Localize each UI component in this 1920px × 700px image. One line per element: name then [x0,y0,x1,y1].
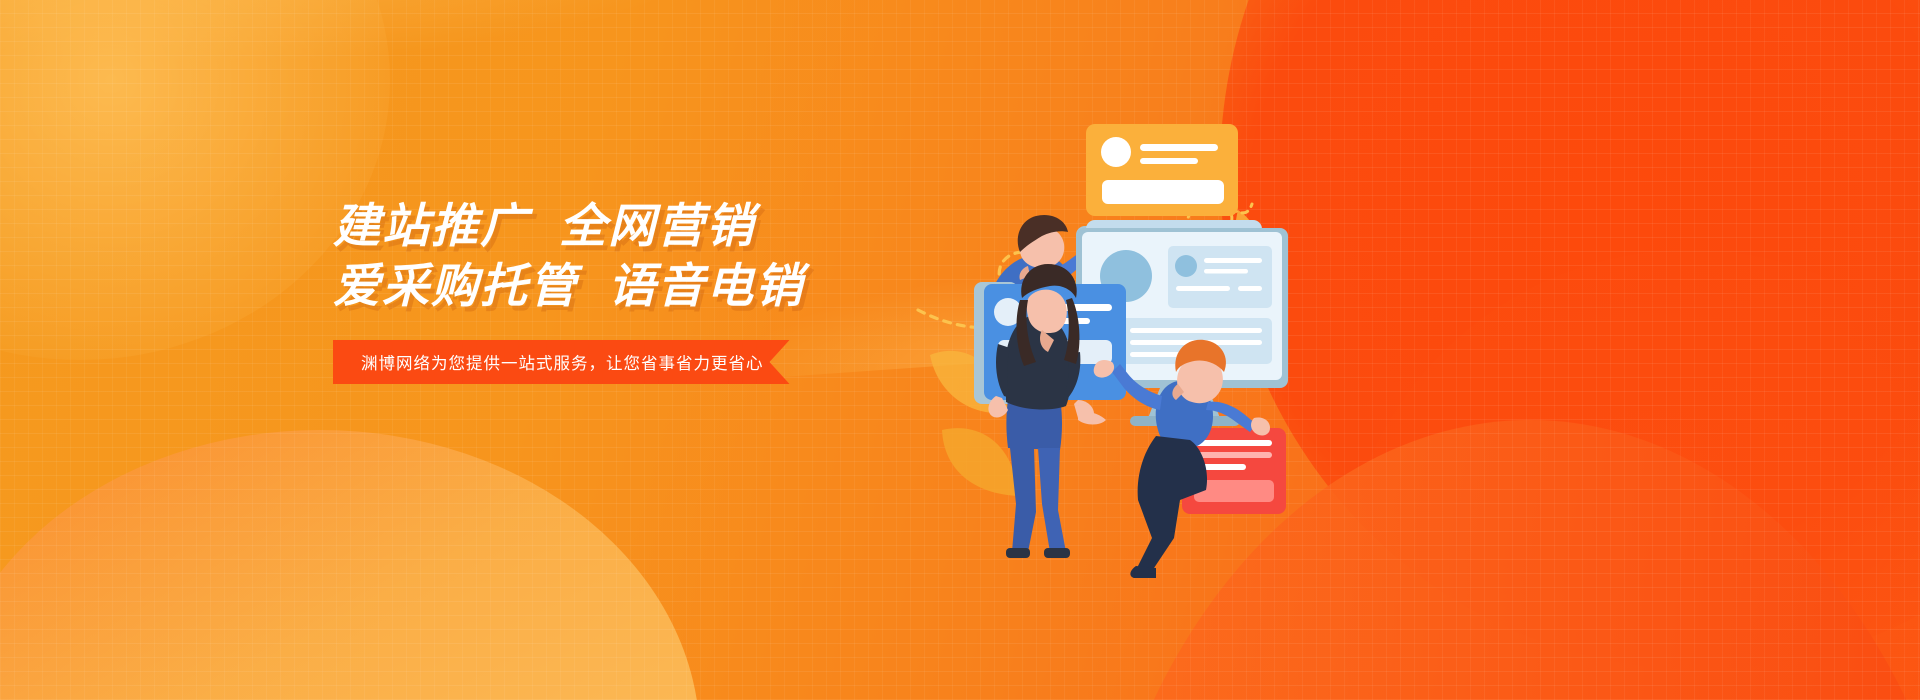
yellow-profile-card [1086,124,1238,216]
tagline-ribbon: 渊博网络为您提供一站式服务，让您省事省力更省心 [333,340,790,384]
headline-group: 建站推广 全网营销 爱采购托管 语音电销 [333,196,953,316]
promo-banner: 建站推广 全网营销 爱采购托管 语音电销 渊博网络为您提供一站式服务，让您省事省… [0,0,1920,700]
monitor-card-right [1168,246,1272,308]
headline-line-2: 爱采购托管 语音电销 [333,256,953,316]
hero-illustration [890,100,1320,580]
headline-line-1: 建站推广 全网营销 [333,196,953,256]
tagline-text: 渊博网络为您提供一站式服务，让您省事省力更省心 [361,350,764,374]
tagline-ribbon-body: 渊博网络为您提供一站式服务，让您省事省力更省心 [333,340,790,384]
background-blob-bottom-left [0,430,700,700]
